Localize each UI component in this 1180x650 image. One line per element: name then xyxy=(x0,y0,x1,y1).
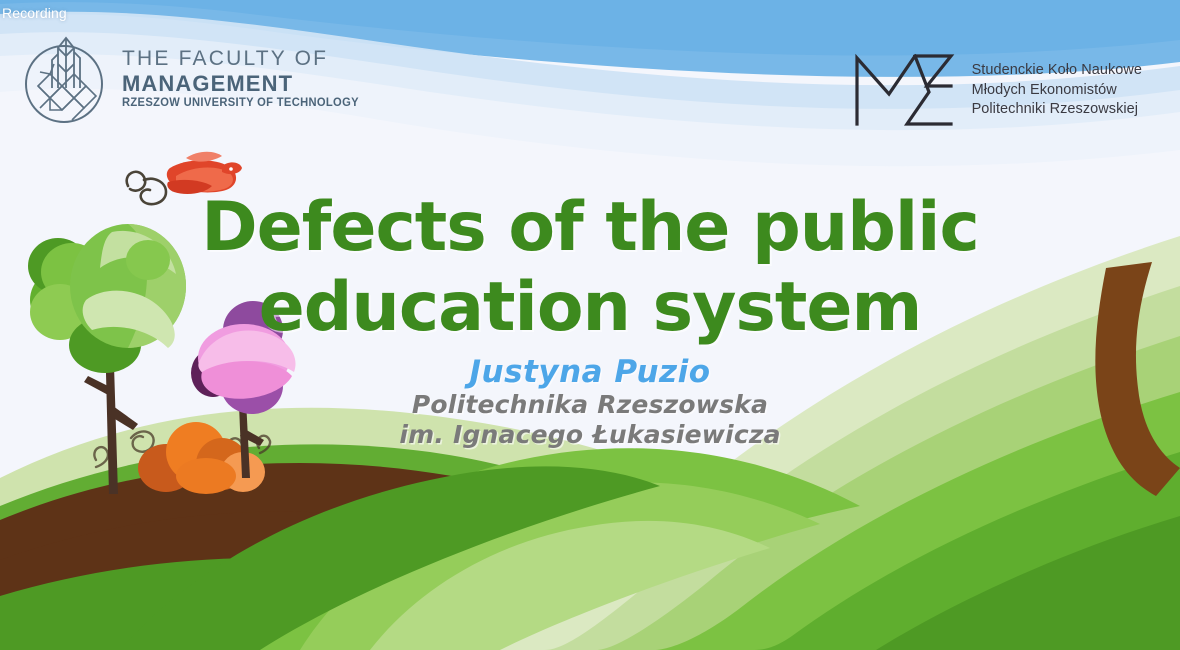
faculty-line-3: RZESZOW UNIVERSITY OF TECHNOLOGY xyxy=(122,96,359,111)
decorative-swirl-icon xyxy=(127,172,166,204)
faculty-line-2: MANAGEMENT xyxy=(122,71,366,96)
presentation-slide: Recording xyxy=(0,0,1180,650)
faculty-line-1: THE FACULTY OF xyxy=(122,47,366,71)
mle-monogram-icon xyxy=(851,50,956,130)
skn-line-1: Studenckie Koło Naukowe xyxy=(972,61,1142,81)
skn-logo: Studenckie Koło Naukowe Młodych Ekonomis… xyxy=(851,50,1142,130)
rzeszow-faculty-emblem-icon xyxy=(18,26,110,126)
skn-line-3: Politechniki Rzeszowskiej xyxy=(972,100,1142,120)
faculty-logo: THE FACULTY OF MANAGEMENT RZESZOW UNIVER… xyxy=(18,26,366,126)
skn-line-2: Młodych Ekonomistów xyxy=(972,81,1142,101)
recording-indicator: Recording xyxy=(2,5,67,21)
red-bird-icon xyxy=(167,152,242,194)
skn-logo-text: Studenckie Koło Naukowe Młodych Ekonomis… xyxy=(972,60,1142,120)
faculty-logo-text: THE FACULTY OF MANAGEMENT RZESZOW UNIVER… xyxy=(122,41,366,111)
